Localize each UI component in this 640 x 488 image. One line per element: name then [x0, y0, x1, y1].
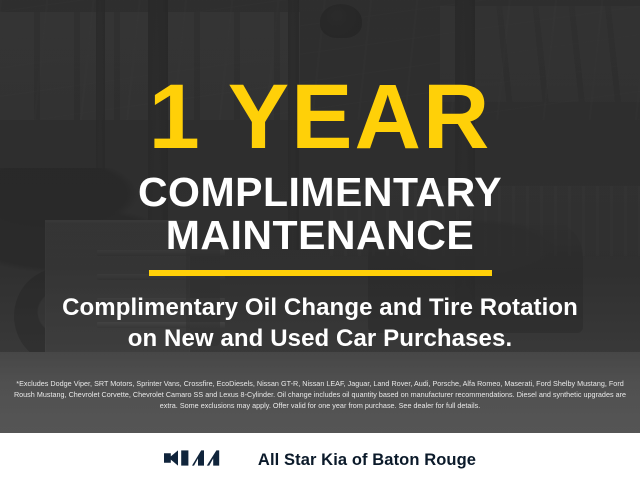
- dealer-name: All Star Kia of Baton Rouge: [258, 451, 476, 470]
- offer-line-2: on New and Used Car Purchases.: [62, 323, 578, 354]
- yellow-divider-bar: [149, 270, 492, 276]
- offer-line-1: Complimentary Oil Change and Tire Rotati…: [62, 292, 578, 323]
- headline-year: 1 YEAR: [149, 74, 492, 161]
- footer-bar: All Star Kia of Baton Rouge: [0, 433, 640, 488]
- offer-text: Complimentary Oil Change and Tire Rotati…: [62, 292, 578, 354]
- kia-logo-icon: [164, 447, 236, 474]
- headline-stack: 1 YEAR COMPLIMENTARY MAINTENANCE Complim…: [0, 0, 640, 433]
- headline-maintenance: MAINTENANCE: [166, 214, 474, 257]
- promo-banner: 1 YEAR COMPLIMENTARY MAINTENANCE Complim…: [0, 0, 640, 488]
- disclaimer-text: *Excludes Dodge Viper, SRT Motors, Sprin…: [12, 379, 628, 412]
- hero-section: 1 YEAR COMPLIMENTARY MAINTENANCE Complim…: [0, 0, 640, 433]
- headline-complimentary: COMPLIMENTARY: [138, 171, 502, 214]
